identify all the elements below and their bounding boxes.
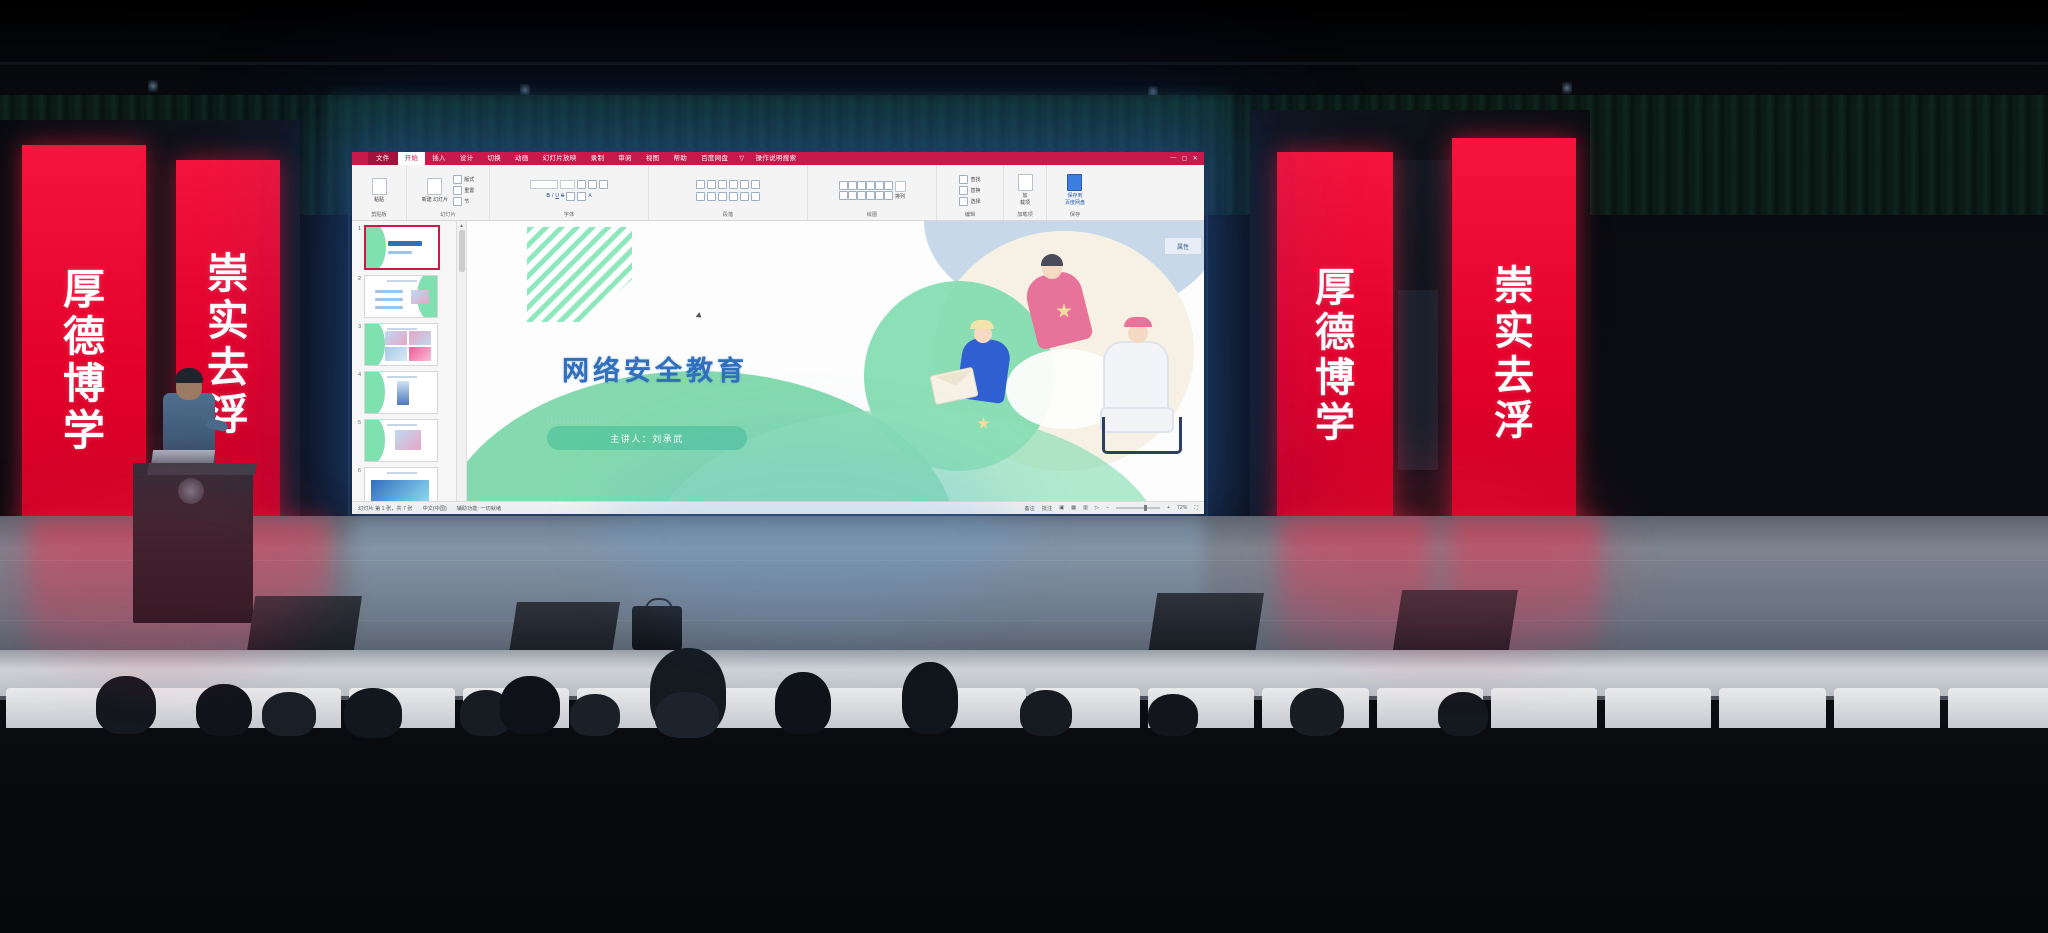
thumb-caption (387, 280, 417, 282)
thumb-number: 2 (354, 275, 361, 283)
slide-thumbnail-6[interactable] (364, 467, 438, 501)
seat (1834, 688, 1940, 728)
group-name-editing: 编辑 (965, 212, 975, 219)
podium-emblem (178, 478, 204, 504)
truss-light-icon (148, 80, 158, 92)
view-slideshow-icon[interactable]: ▷ (1095, 505, 1099, 511)
select-button[interactable]: 选择 (970, 198, 980, 205)
seat (1948, 688, 2048, 728)
thumb-blob (364, 371, 385, 414)
shape-line-icon[interactable] (857, 181, 866, 190)
find-button[interactable]: 查找 (970, 176, 980, 183)
slide-thumbnail-5[interactable] (364, 419, 438, 462)
slide-thumbnail-2[interactable] (364, 275, 438, 318)
language-label[interactable]: 中文(中国) (422, 505, 446, 512)
tab-transitions[interactable]: 切换 (480, 152, 508, 165)
zoom-slider[interactable] (1116, 507, 1160, 509)
ribbon-group-slides[interactable]: 新建 幻灯片 版式 重置 节 幻灯片 (407, 165, 490, 220)
tab-design[interactable]: 设计 (453, 152, 481, 165)
tab-view[interactable]: 视图 (639, 152, 667, 165)
ceiling-beam (0, 62, 2048, 65)
thumb-caption (387, 472, 417, 474)
view-reading-icon[interactable]: ▥ (1083, 505, 1088, 511)
stage-monitor-3 (1148, 593, 1264, 655)
banner-right-2: 崇实去浮 (1452, 138, 1576, 570)
mouse-cursor-icon (696, 312, 704, 320)
select-icon (959, 197, 968, 206)
thumb-blob (364, 419, 385, 462)
font-name-row[interactable] (530, 180, 608, 189)
paste-label: 粘贴 (374, 196, 384, 203)
list-item[interactable]: 1 (354, 225, 454, 270)
notes-button[interactable]: 备注 (1024, 505, 1034, 512)
tab-review[interactable]: 审阅 (611, 152, 639, 165)
shape-triangle-icon[interactable] (839, 191, 848, 200)
thumb-line (375, 298, 403, 301)
stage-monitor-4 (1392, 590, 1518, 656)
illustration-chair (1102, 417, 1182, 454)
seat (1605, 688, 1711, 728)
led-screen: 文件 开始 插入 设计 切换 动画 幻灯片放映 录制 审阅 视图 帮助 百度网盘… (352, 152, 1204, 514)
strikethrough-button[interactable]: S (561, 193, 564, 199)
decrease-indent-icon[interactable] (718, 180, 727, 189)
columns-icon[interactable] (740, 192, 749, 201)
layout-label[interactable]: 版式 (464, 176, 474, 183)
line-spacing-icon[interactable] (740, 180, 749, 189)
arrange-button[interactable]: 排列 (895, 181, 906, 200)
audience-head (1020, 690, 1072, 736)
text-direction-icon[interactable] (751, 180, 760, 189)
justify-icon[interactable] (729, 192, 738, 201)
slide-thumbnail-4[interactable] (364, 371, 438, 414)
ribbon-group-font[interactable]: B I U S A 字体 (490, 165, 649, 220)
group-name-addins: 加载项 (1017, 212, 1033, 219)
shape-diamond-icon[interactable] (848, 191, 857, 200)
audience-area (0, 700, 2048, 933)
shape-star-icon[interactable] (866, 191, 875, 200)
fit-to-window-icon[interactable]: ⛶ (1194, 505, 1198, 512)
addins-icon (1018, 174, 1033, 191)
list-item[interactable]: 6 (354, 467, 454, 501)
tab-tell-me-search[interactable]: 操作说明搜索 (749, 152, 804, 165)
shape-pentagon-icon[interactable] (857, 191, 866, 200)
audience-head (96, 676, 156, 734)
banner-text: 厚德博学 (63, 266, 105, 454)
zoom-out-icon[interactable]: − (1106, 505, 1109, 511)
ribbon-group-drawing[interactable]: 排列 绘图 (808, 165, 937, 220)
presenter-hair (175, 368, 203, 383)
group-name-font: 字体 (564, 212, 574, 219)
section-icon (453, 197, 462, 206)
paste-button[interactable]: 粘贴 (372, 178, 387, 203)
audience-head (262, 692, 316, 736)
auditorium-scene: 厚德博学 崇实去浮 厚德博学 崇实去浮 文件 开始 插入 设计 切换 动画 幻灯… (0, 0, 2048, 933)
tab-file[interactable]: 文件 (368, 152, 398, 165)
list-item[interactable]: 3 (354, 323, 454, 366)
thumb-image (385, 331, 407, 345)
screen-reflection (352, 518, 1204, 668)
cloud-icon (1067, 174, 1082, 191)
ribbon[interactable]: 粘贴 剪贴板 新建 幻灯片 版式 重置 节 (352, 165, 1204, 221)
thumb-number: 3 (354, 323, 361, 331)
increase-indent-icon[interactable] (729, 180, 738, 189)
thumb-image-grid (385, 331, 431, 361)
tab-home[interactable]: 开始 (398, 152, 426, 165)
audience-head (1148, 694, 1198, 736)
tab-help[interactable]: 帮助 (666, 152, 694, 165)
list-item[interactable]: 4 (354, 371, 454, 414)
slide-thumbnail-1[interactable] (364, 225, 440, 270)
thumb-title-bar (388, 241, 422, 246)
ribbon-group-editing[interactable]: 查找 替换 选择 编辑 (937, 165, 1004, 220)
paste-icon (372, 178, 387, 195)
shape-more-icon[interactable] (884, 191, 893, 200)
tab-baidu-netdisk[interactable]: 百度网盘 (694, 152, 735, 165)
status-right-group[interactable]: 备注 批注 ▣ ▦ ▥ ▷ − + 72% ⛶ (1024, 505, 1198, 512)
thumb-subtitle-bar (388, 251, 412, 254)
audience-head (344, 688, 402, 738)
current-slide[interactable]: 网络安全教育 主讲人：刘承武 属性 (467, 221, 1204, 501)
banner-left-1: 厚德博学 (22, 145, 146, 575)
group-name-paragraph: 段落 (723, 212, 733, 219)
comments-button[interactable]: 批注 (1042, 505, 1052, 512)
numbering-icon[interactable] (707, 180, 716, 189)
search-icon[interactable]: ▽ (735, 152, 748, 165)
zoom-in-icon[interactable]: + (1167, 505, 1170, 511)
slide-thumbnail-pane[interactable]: 1 2 (352, 221, 457, 501)
bold-button[interactable]: B (546, 193, 550, 199)
addins-button[interactable]: 加 载项 (1018, 174, 1033, 206)
thumb-image (409, 347, 431, 361)
group-name-save: 保存 (1070, 212, 1080, 219)
seat (1719, 688, 1825, 728)
thumb-number: 4 (354, 371, 361, 379)
slide-stripe-decoration (527, 227, 632, 322)
audience-head (1438, 692, 1488, 736)
floor-seam (0, 560, 2048, 561)
seat (1491, 688, 1597, 728)
new-slide-label: 新建 幻灯片 (422, 196, 448, 203)
font-family-select[interactable] (530, 180, 558, 189)
slide-thumbnail-3[interactable] (364, 323, 438, 366)
group-name-slides: 幻灯片 (440, 212, 456, 219)
tab-animations[interactable]: 动画 (508, 152, 536, 165)
thumb-caption (387, 376, 417, 378)
ppt-body: 1 2 (352, 221, 1204, 501)
audience-head (775, 672, 831, 734)
illustration-hat (1124, 317, 1152, 327)
ribbon-group-clipboard[interactable]: 粘贴 剪贴板 (352, 165, 407, 220)
change-case-icon[interactable] (577, 192, 586, 201)
window-controls[interactable]: — ▢ ✕ (1170, 155, 1204, 162)
replace-button[interactable]: 替换 (970, 187, 980, 194)
align-right-icon[interactable] (718, 192, 727, 201)
tab-record[interactable]: 录制 (584, 152, 612, 165)
char-spacing-icon[interactable] (566, 192, 575, 201)
minimize-icon[interactable]: — (1170, 155, 1176, 162)
thumb-image (395, 430, 421, 450)
audience-head (570, 694, 620, 736)
audience-head (196, 684, 252, 736)
slide-dot-decoration (547, 419, 601, 424)
audience-head (902, 662, 958, 734)
slide-editing-area[interactable]: 网络安全教育 主讲人：刘承武 属性 (467, 221, 1204, 501)
thumb-number: 1 (354, 225, 361, 233)
side-panel-box (1398, 290, 1438, 470)
thumb-line (375, 306, 403, 309)
illustration-hat (970, 320, 994, 329)
scroll-up-icon[interactable]: ▲ (459, 223, 464, 229)
truss-light-icon (1562, 82, 1572, 94)
align-left-icon[interactable] (696, 192, 705, 201)
decrease-font-icon[interactable] (588, 180, 597, 189)
thumb-blob (364, 323, 385, 366)
thumb-image (409, 331, 431, 345)
shape-square-icon[interactable] (875, 181, 884, 190)
banner-text: 厚德博学 (1315, 266, 1355, 445)
arrange-label: 排列 (895, 193, 905, 200)
increase-font-icon[interactable] (577, 180, 586, 189)
scrollbar-thumb[interactable] (459, 230, 465, 272)
shape-brace-icon[interactable] (875, 191, 884, 200)
align-row[interactable] (696, 192, 760, 201)
thumb-caption (387, 328, 417, 330)
audience-head (655, 692, 719, 738)
properties-pane-button[interactable]: 属性 (1164, 237, 1202, 255)
tab-insert[interactable]: 插入 (425, 152, 453, 165)
slide-count-label: 幻灯片 第 1 张，共 7 张 (358, 505, 412, 512)
bullets-icon[interactable] (696, 180, 705, 189)
zoom-slider-handle[interactable] (1144, 505, 1147, 511)
save-to-netdisk-label: 保存到 百度网盘 (1065, 192, 1085, 206)
shape-rounded-icon[interactable] (848, 181, 857, 190)
thumb-number: 6 (354, 467, 361, 475)
status-bar[interactable]: 幻灯片 第 1 张，共 7 张 中文(中国) 辅助功能: 一切就绪 备注 批注 … (352, 501, 1204, 514)
group-name-clipboard: 剪贴板 (371, 212, 387, 219)
accessibility-label[interactable]: 辅助功能: 一切就绪 (457, 505, 501, 512)
thumb-blob (364, 225, 386, 270)
slide-subtitle-band[interactable]: 主讲人：刘承武 (547, 426, 747, 450)
new-slide-icon (427, 178, 442, 195)
view-sorter-icon[interactable]: ▦ (1071, 505, 1076, 511)
banner-right-1: 厚德博学 (1277, 152, 1393, 560)
thumb-line (375, 290, 403, 293)
new-slide-button[interactable]: 新建 幻灯片 (422, 178, 448, 203)
powerpoint-window: 文件 开始 插入 设计 切换 动画 幻灯片放映 录制 审阅 视图 帮助 百度网盘… (352, 152, 1204, 514)
bag-on-floor (632, 606, 682, 650)
tab-slideshow[interactable]: 幻灯片放映 (536, 152, 584, 165)
zoom-level-label: 72% (1177, 505, 1187, 511)
list-item[interactable]: 5 (354, 419, 454, 462)
close-icon[interactable]: ✕ (1193, 155, 1198, 162)
slide-subtitle: 主讲人：刘承武 (610, 432, 684, 445)
ribbon-group-paragraph[interactable]: 段落 (649, 165, 808, 220)
save-to-netdisk-button[interactable]: 保存到 百度网盘 (1065, 174, 1085, 206)
stage-monitor-1 (246, 596, 362, 658)
ribbon-group-save[interactable]: 保存到 百度网盘 保存 (1047, 165, 1103, 220)
audience-head (1290, 688, 1344, 736)
shape-oval-icon[interactable] (884, 181, 893, 190)
layout-icon (453, 175, 462, 184)
ribbon-group-addins[interactable]: 加 载项 加载项 (1004, 165, 1047, 220)
clear-format-icon[interactable] (599, 180, 608, 189)
thumb-image (411, 290, 429, 304)
thumb-person-image (397, 381, 409, 405)
slide-title[interactable]: 网络安全教育 (562, 349, 748, 388)
section-label[interactable]: 节 (464, 198, 469, 205)
view-normal-icon[interactable]: ▣ (1059, 505, 1064, 511)
thumb-image (385, 347, 407, 361)
shape-arrow-icon[interactable] (866, 181, 875, 190)
align-center-icon[interactable] (707, 192, 716, 201)
italic-button[interactable]: I (552, 193, 553, 199)
group-name-drawing: 绘图 (867, 212, 877, 219)
thumbnail-scrollbar[interactable]: ▲ (457, 221, 467, 501)
addins-label: 加 载项 (1020, 192, 1030, 206)
shape-gallery[interactable] (839, 181, 892, 200)
banner-text: 崇实去浮 (1494, 264, 1534, 443)
shape-rect-icon[interactable] (839, 181, 848, 190)
audience-head (500, 676, 560, 734)
smartart-icon[interactable] (751, 192, 760, 201)
podium-top-surface (147, 463, 257, 475)
list-row[interactable] (696, 180, 760, 189)
reset-icon (453, 186, 462, 195)
thumb-image (371, 480, 429, 501)
arrange-icon (895, 181, 906, 192)
replace-icon (959, 186, 968, 195)
font-size-select[interactable] (560, 180, 575, 189)
font-color-button[interactable]: A (588, 193, 591, 199)
thumb-number: 5 (354, 419, 361, 427)
thumb-caption (387, 424, 417, 426)
underline-button[interactable]: U (555, 193, 559, 199)
maximize-icon[interactable]: ▢ (1182, 155, 1188, 162)
font-style-row[interactable]: B I U S A (546, 192, 591, 201)
list-item[interactable]: 2 (354, 275, 454, 318)
reset-label[interactable]: 重置 (464, 187, 474, 194)
find-icon (959, 175, 968, 184)
ribbon-tab-bar[interactable]: 文件 开始 插入 设计 切换 动画 幻灯片放映 录制 审阅 视图 帮助 百度网盘… (352, 152, 1204, 165)
